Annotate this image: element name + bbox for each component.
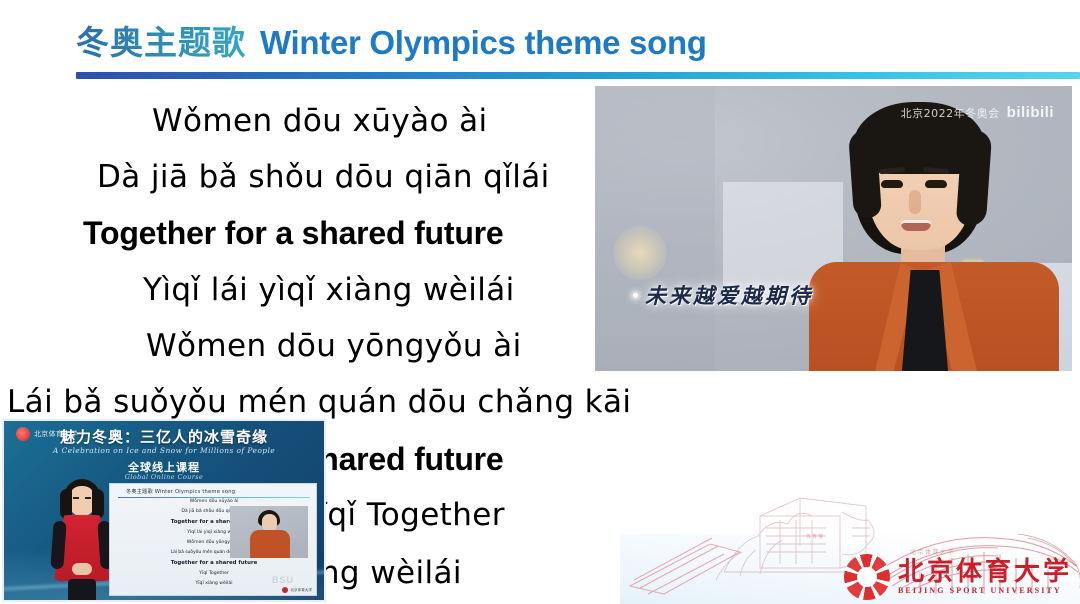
pip-course-title-english: A Celebration on Ice and Snow for Millio… bbox=[4, 446, 324, 455]
pip-inner-slide: 冬奥主题歌 Winter Olympics theme song Wǒmen d… bbox=[109, 483, 317, 596]
pip-inner-watermark: BSU bbox=[272, 575, 294, 585]
lyric-line: Wǒmen dōu xūyào ài bbox=[152, 106, 488, 137]
studio-backdrop bbox=[595, 86, 715, 371]
picture-in-picture-presenter[interactable]: 北京体育大学 魅力冬奥：三亿人的冰雪奇缘 A Celebration on Ic… bbox=[2, 419, 326, 602]
bsu-emblem-icon bbox=[844, 554, 890, 600]
bsu-emblem-icon bbox=[282, 587, 288, 593]
lyric-line: Yīqǐ Together bbox=[299, 500, 505, 531]
university-name-chinese: 北京体育大学 bbox=[898, 559, 1072, 585]
svg-text:体育馆: 体育馆 bbox=[806, 533, 824, 540]
lyric-line: Dà jiā bǎ shǒu dōu qiān qǐlái bbox=[97, 162, 550, 193]
pip-inner-lyric: Wǒmen dōu xūyào ài bbox=[110, 500, 317, 505]
lyric-line: Yìqǐ lái yìqǐ xiàng wèilái bbox=[143, 275, 515, 306]
pip-inner-lyric: Together for a shared future bbox=[110, 561, 317, 566]
video-person-figure bbox=[809, 94, 1059, 371]
lyric-line-emphasis: Together for a shared future bbox=[83, 217, 504, 249]
video-subtitle: 未来越爱越期待 bbox=[633, 280, 813, 310]
pip-inner-corner-logo: 北京体育大学 bbox=[282, 587, 312, 593]
title-divider-rule bbox=[76, 72, 1080, 79]
video-watermark: 北京2022年冬奥会 bilibili bbox=[901, 104, 1054, 121]
lyric-line: Wǒmen dōu yōngyǒu ài bbox=[146, 331, 522, 362]
pip-inner-slide-title: 冬奥主题歌 Winter Olympics theme song bbox=[126, 488, 235, 495]
pip-course-title-chinese: 魅力冬奥：三亿人的冰雪奇缘 bbox=[4, 426, 324, 447]
studio-light bbox=[613, 226, 667, 280]
sparkle-icon bbox=[633, 293, 638, 298]
pip-inner-slide-rule bbox=[118, 497, 310, 498]
pip-inner-corner-logo-text: 北京体育大学 bbox=[290, 588, 312, 593]
embedded-video-player[interactable]: 未来越爱越期待 北京2022年冬奥会 bilibili bbox=[595, 86, 1072, 371]
university-logo: 北京体育大学 BEIJING SPORT UNIVERSITY bbox=[844, 554, 1072, 600]
university-name-english: BEIJING SPORT UNIVERSITY bbox=[898, 586, 1072, 595]
slide-title: 冬奥主题歌 Winter Olympics theme song bbox=[76, 16, 707, 64]
slide-title-english: Winter Olympics theme song bbox=[260, 24, 707, 62]
pip-inner-video bbox=[230, 506, 308, 558]
lyric-line: Lái bǎ suǒyǒu mén quán dōu chǎng kāi bbox=[7, 387, 631, 418]
pip-presenter-figure bbox=[46, 479, 118, 602]
bilibili-logo: bilibili bbox=[1007, 104, 1054, 121]
slide-title-chinese: 冬奥主题歌 bbox=[76, 16, 246, 64]
video-subtitle-text: 未来越爱越期待 bbox=[645, 283, 813, 308]
watermark-event-text: 北京2022年冬奥会 bbox=[901, 105, 1000, 121]
presentation-slide: 冬奥主题歌 Winter Olympics theme song Wǒmen d… bbox=[0, 0, 1080, 604]
